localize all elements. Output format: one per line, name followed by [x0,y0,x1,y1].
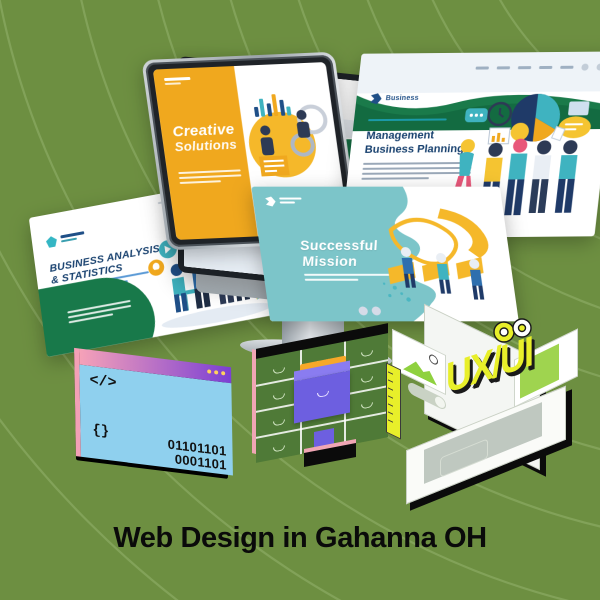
search-icon[interactable] [581,64,589,71]
logo-wordmark [279,198,302,206]
successful-mission-card[interactable]: Successful Mission [251,187,518,322]
tablet-illustration [237,84,347,183]
nav-item[interactable] [518,66,531,69]
account-icon[interactable] [596,64,600,71]
filing-cabinet[interactable] [252,330,392,476]
logo-wordmark: Business [385,95,419,102]
tablet-logo [164,77,191,87]
ruler-icon [386,362,401,439]
poster-canvas: BUSINESS ANALYSIS & STATISTICS [0,0,600,600]
tablet-body-text [178,169,242,187]
card-logo [45,230,85,248]
nav-item[interactable] [539,66,552,69]
code-brace-icon: {} [92,422,109,440]
nav-item[interactable] [560,66,573,69]
page-title: Web Design in Gahanna OH [0,522,600,555]
card-title: Successful Mission [299,238,381,269]
code-tag-icon: </> [89,372,116,392]
uxui-laptop[interactable]: UX/UI [388,318,578,486]
card-logo [265,197,303,207]
nav-item[interactable] [497,66,510,69]
card-nav [475,64,600,72]
window-controls[interactable] [207,369,225,375]
logo-wordmark [60,231,85,244]
mission-illustration [365,203,514,312]
logo-mark-icon [45,235,57,248]
logo-mark-icon [370,93,382,104]
logo-mark-icon [265,197,276,207]
tablet-title: Creative Solutions [172,122,238,154]
card-logo: Business [370,93,419,104]
nav-item[interactable] [476,66,489,69]
sun-glyph [429,353,438,366]
pagination-dots[interactable] [358,306,381,315]
card-face: Successful Mission [251,187,518,322]
code-window[interactable]: </> {} 01101101 0001101 [79,349,233,476]
